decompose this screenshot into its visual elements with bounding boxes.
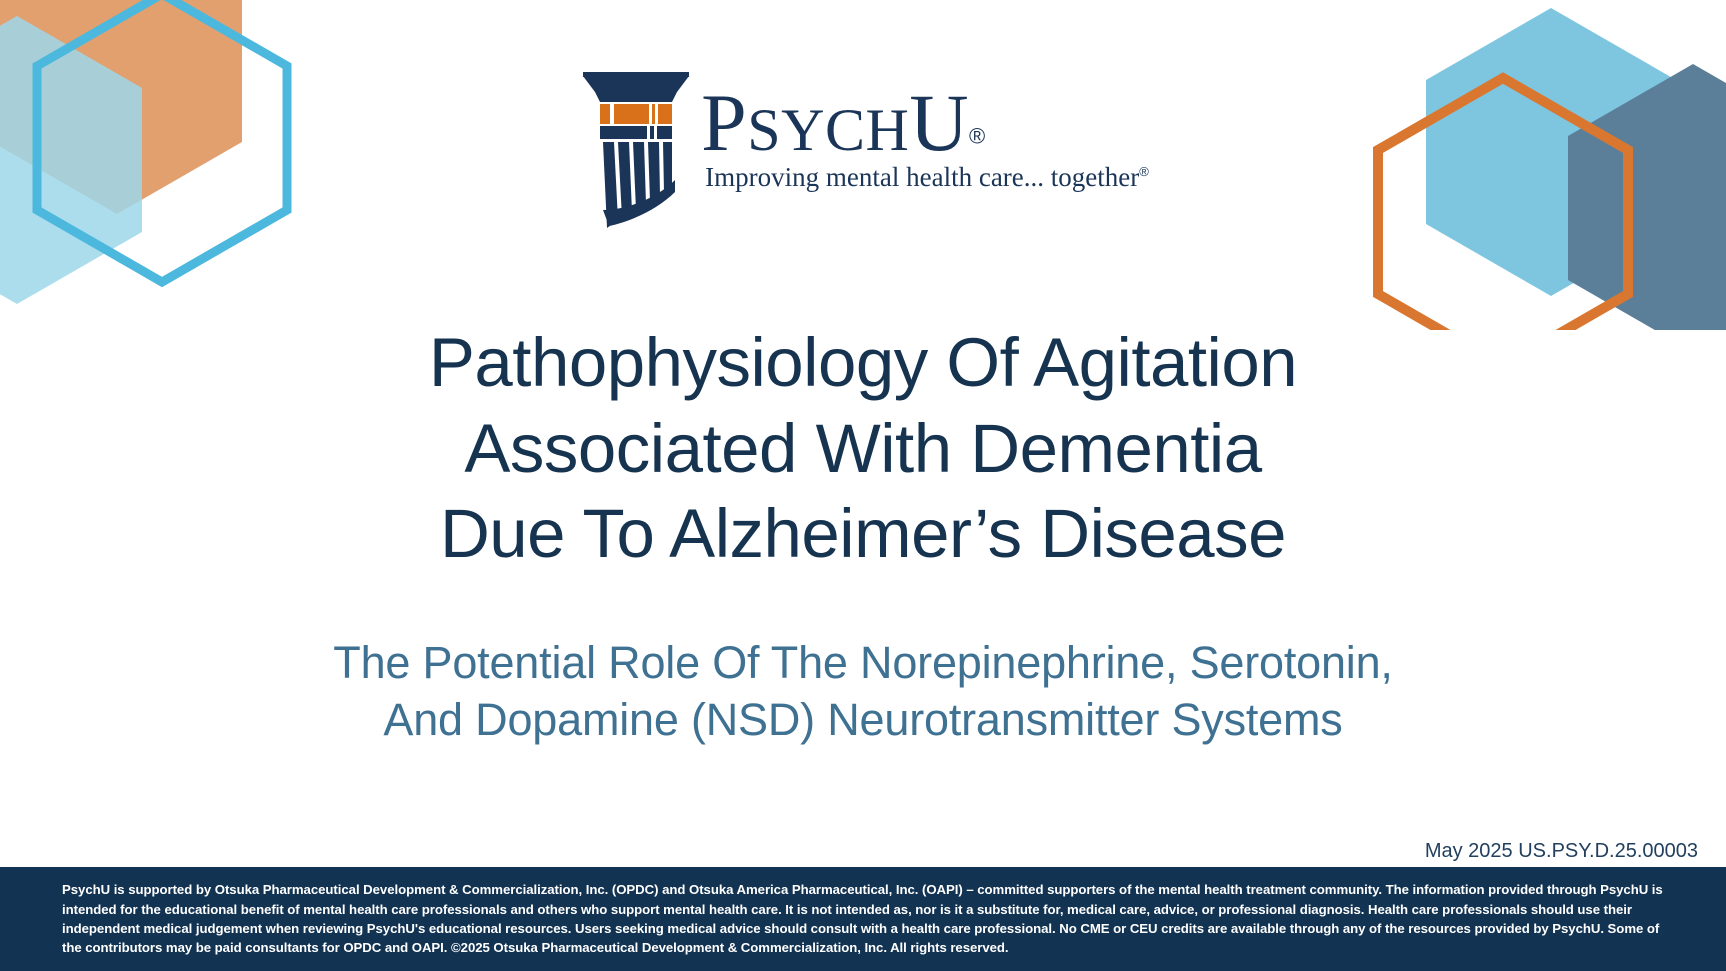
logo-wordmark: PSYCHU® [701,86,986,160]
registered-trademark-icon: ® [969,124,986,149]
page-title: Pathophysiology Of Agitation Associated … [0,320,1726,577]
tagline-registered-icon: ® [1139,164,1149,179]
page-subtitle: The Potential Role Of The Norepinephrine… [0,635,1726,748]
greek-column-icon [577,60,695,233]
subtitle-line-1: The Potential Role Of The Norepinephrine… [0,635,1726,692]
logo-tagline: Improving mental health care... together… [705,162,1149,193]
footer-disclaimer-bar: PsychU is supported by Otsuka Pharmaceut… [0,867,1726,971]
logo-wordmark-p: P [701,77,747,168]
logo-wordmark-sych: SYCH [747,97,909,163]
psychu-logo: PSYCHU® Improving mental health care... … [0,60,1726,233]
subtitle-line-2: And Dopamine (NSD) Neurotransmitter Syst… [0,692,1726,749]
title-line-1: Pathophysiology Of Agitation [0,320,1726,406]
logo-tagline-text: Improving mental health care... together [705,162,1139,192]
date-material-code: May 2025 US.PSY.D.25.00003 [1425,840,1698,863]
presentation-title-slide: PSYCHU® Improving mental health care... … [0,0,1726,971]
logo-wordmark-u: U [909,77,969,168]
title-line-3: Due To Alzheimer’s Disease [0,491,1726,577]
title-line-2: Associated With Dementia [0,406,1726,492]
footer-disclaimer-text: PsychU is supported by Otsuka Pharmaceut… [62,880,1664,957]
